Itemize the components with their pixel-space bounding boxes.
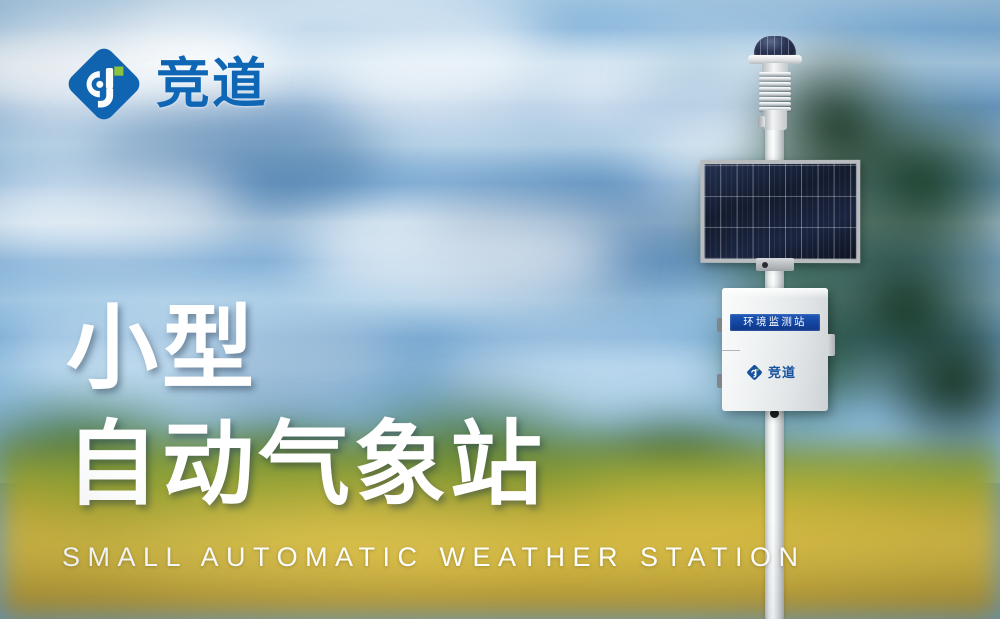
solar-panel-icon — [700, 160, 860, 263]
page-subtitle: SMALL AUTOMATIC WEATHER STATION — [62, 542, 806, 573]
control-box: 环境监测站 竞道 — [722, 288, 828, 411]
control-box-seam — [722, 350, 740, 351]
solar-mount-bolt-icon — [762, 262, 768, 268]
control-box-latch — [827, 334, 835, 356]
jingdao-diamond-logo-icon — [66, 46, 142, 122]
brand-name-text: 竞道 — [156, 57, 268, 111]
ultrasonic-weather-sensor-icon — [748, 36, 802, 128]
control-box-brand: 竞道 — [746, 364, 796, 381]
control-box-banner-label: 环境监测站 — [730, 314, 820, 331]
title-line-1: 小型 — [66, 298, 258, 400]
jingdao-diamond-logo-icon — [746, 364, 763, 381]
control-box-hinge-top — [717, 318, 722, 332]
title-line-2: 自动气象站 — [66, 408, 546, 524]
sensor-mount-lug — [758, 116, 765, 127]
brand-logo[interactable]: 竞道 — [66, 46, 268, 122]
control-box-hinge-bottom — [717, 374, 722, 388]
page-title: 小型 自动气象站 — [66, 292, 546, 524]
control-box-brand-text: 竞道 — [768, 366, 796, 379]
product-hero-banner: 环境监测站 竞道 — [0, 0, 1000, 619]
solar-cell-grid — [704, 164, 856, 259]
radiation-shield — [759, 72, 791, 112]
sensor-base — [763, 110, 787, 130]
